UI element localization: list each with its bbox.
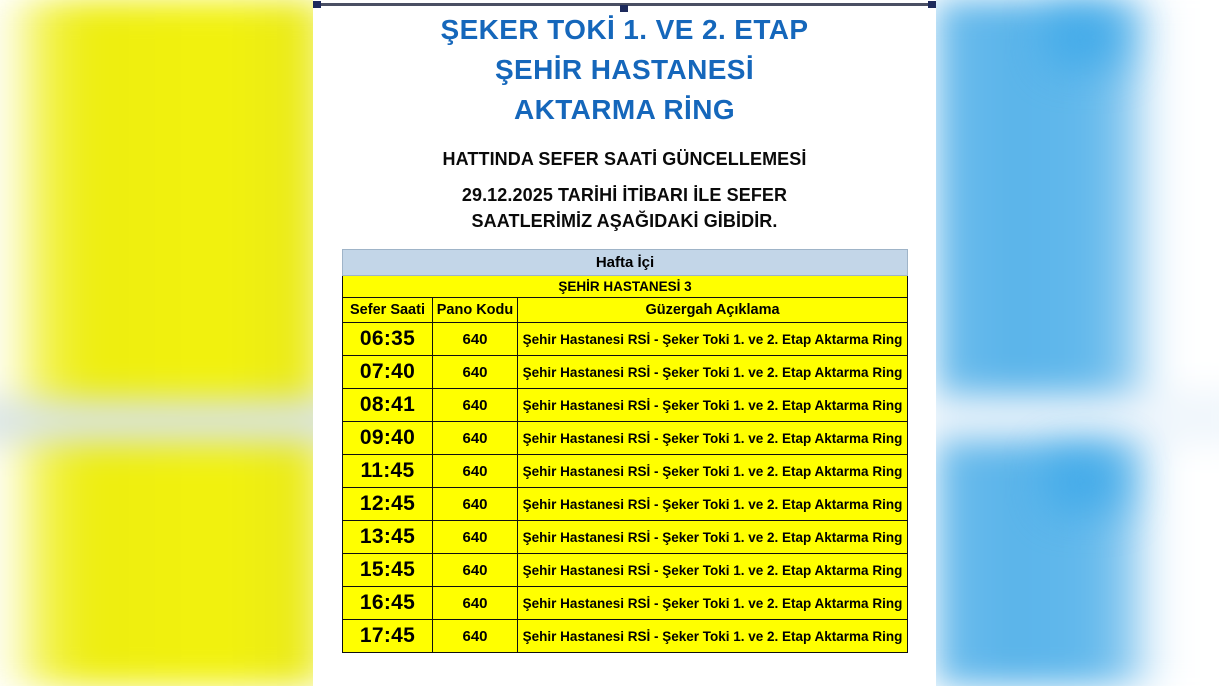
cell-panel-code: 640 [433, 323, 518, 356]
cell-departure-time: 17:45 [343, 620, 433, 653]
cell-route-description: Şehir Hastanesi RSİ - Şeker Toki 1. ve 2… [518, 521, 908, 554]
table-row: 12:45640Şehir Hastanesi RSİ - Şeker Toki… [343, 488, 908, 521]
cell-departure-time: 16:45 [343, 587, 433, 620]
blurred-background-blue-blotch-top [1048, 8, 1126, 66]
cell-departure-time: 13:45 [343, 521, 433, 554]
table-row: 06:35640Şehir Hastanesi RSİ - Şeker Toki… [343, 323, 908, 356]
poster-title: ŞEKER TOKİ 1. VE 2. ETAP ŞEHİR HASTANESİ… [313, 10, 936, 130]
title-line-3: AKTARMA RİNG [313, 90, 936, 130]
cell-departure-time: 12:45 [343, 488, 433, 521]
blurred-background-blue-blotch-bottom [1048, 452, 1126, 510]
cell-panel-code: 640 [433, 356, 518, 389]
table-row: 16:45640Şehir Hastanesi RSİ - Şeker Toki… [343, 587, 908, 620]
schedule-table: Hafta İçi ŞEHİR HASTANESİ 3 Sefer Saati … [342, 249, 908, 653]
column-header-time: Sefer Saati [343, 298, 433, 323]
selection-handle-left[interactable] [313, 1, 321, 8]
table-row: 11:45640Şehir Hastanesi RSİ - Şeker Toki… [343, 455, 908, 488]
table-banner-cell: Hafta İçi [343, 250, 908, 276]
title-line-2: ŞEHİR HASTANESİ [313, 50, 936, 90]
screenshot-canvas: ŞEKER TOKİ 1. VE 2. ETAP ŞEHİR HASTANESİ… [0, 0, 1219, 686]
title-line-1: ŞEKER TOKİ 1. VE 2. ETAP [313, 10, 936, 50]
cell-route-description: Şehir Hastanesi RSİ - Şeker Toki 1. ve 2… [518, 620, 908, 653]
table-row: 07:40640Şehir Hastanesi RSİ - Şeker Toki… [343, 356, 908, 389]
poster-panel: ŞEKER TOKİ 1. VE 2. ETAP ŞEHİR HASTANESİ… [313, 0, 936, 686]
cell-panel-code: 640 [433, 389, 518, 422]
selection-handle-middle[interactable] [620, 5, 628, 12]
cell-panel-code: 640 [433, 521, 518, 554]
selection-handle-right[interactable] [928, 1, 936, 8]
column-header-route: Güzergah Açıklama [518, 298, 908, 323]
cell-route-description: Şehir Hastanesi RSİ - Şeker Toki 1. ve 2… [518, 587, 908, 620]
cell-route-description: Şehir Hastanesi RSİ - Şeker Toki 1. ve 2… [518, 389, 908, 422]
table-banner-row: Hafta İçi [343, 250, 908, 276]
cell-route-description: Şehir Hastanesi RSİ - Şeker Toki 1. ve 2… [518, 323, 908, 356]
cell-route-description: Şehir Hastanesi RSİ - Şeker Toki 1. ve 2… [518, 422, 908, 455]
cell-route-description: Şehir Hastanesi RSİ - Şeker Toki 1. ve 2… [518, 356, 908, 389]
cell-departure-time: 15:45 [343, 554, 433, 587]
poster-subtitle-block: HATTINDA SEFER SAATİ GÜNCELLEMESİ 29.12.… [313, 146, 936, 234]
cell-panel-code: 640 [433, 554, 518, 587]
table-group-row: ŞEHİR HASTANESİ 3 [343, 276, 908, 298]
cell-route-description: Şehir Hastanesi RSİ - Şeker Toki 1. ve 2… [518, 554, 908, 587]
cell-panel-code: 640 [433, 587, 518, 620]
cell-panel-code: 640 [433, 488, 518, 521]
cell-panel-code: 640 [433, 620, 518, 653]
table-row: 09:40640Şehir Hastanesi RSİ - Şeker Toki… [343, 422, 908, 455]
cell-panel-code: 640 [433, 455, 518, 488]
cell-departure-time: 06:35 [343, 323, 433, 356]
cell-route-description: Şehir Hastanesi RSİ - Şeker Toki 1. ve 2… [518, 488, 908, 521]
table-row: 13:45640Şehir Hastanesi RSİ - Şeker Toki… [343, 521, 908, 554]
table-group-cell: ŞEHİR HASTANESİ 3 [343, 276, 908, 298]
cell-departure-time: 09:40 [343, 422, 433, 455]
table-header-row: Sefer Saati Pano Kodu Güzergah Açıklama [343, 298, 908, 323]
column-header-code: Pano Kodu [433, 298, 518, 323]
cell-departure-time: 11:45 [343, 455, 433, 488]
subtitle-line: HATTINDA SEFER SAATİ GÜNCELLEMESİ [313, 146, 936, 172]
table-row: 08:41640Şehir Hastanesi RSİ - Şeker Toki… [343, 389, 908, 422]
cell-departure-time: 07:40 [343, 356, 433, 389]
cell-departure-time: 08:41 [343, 389, 433, 422]
effective-date-line-1: 29.12.2025 TARİHİ İTİBARI İLE SEFER [313, 182, 936, 208]
table-row: 15:45640Şehir Hastanesi RSİ - Şeker Toki… [343, 554, 908, 587]
table-row: 17:45640Şehir Hastanesi RSİ - Şeker Toki… [343, 620, 908, 653]
cell-panel-code: 640 [433, 422, 518, 455]
effective-date-line-2: SAATLERİMİZ AŞAĞIDAKİ GİBİDİR. [313, 208, 936, 234]
blurred-background-right [920, 0, 1219, 686]
cell-route-description: Şehir Hastanesi RSİ - Şeker Toki 1. ve 2… [518, 455, 908, 488]
